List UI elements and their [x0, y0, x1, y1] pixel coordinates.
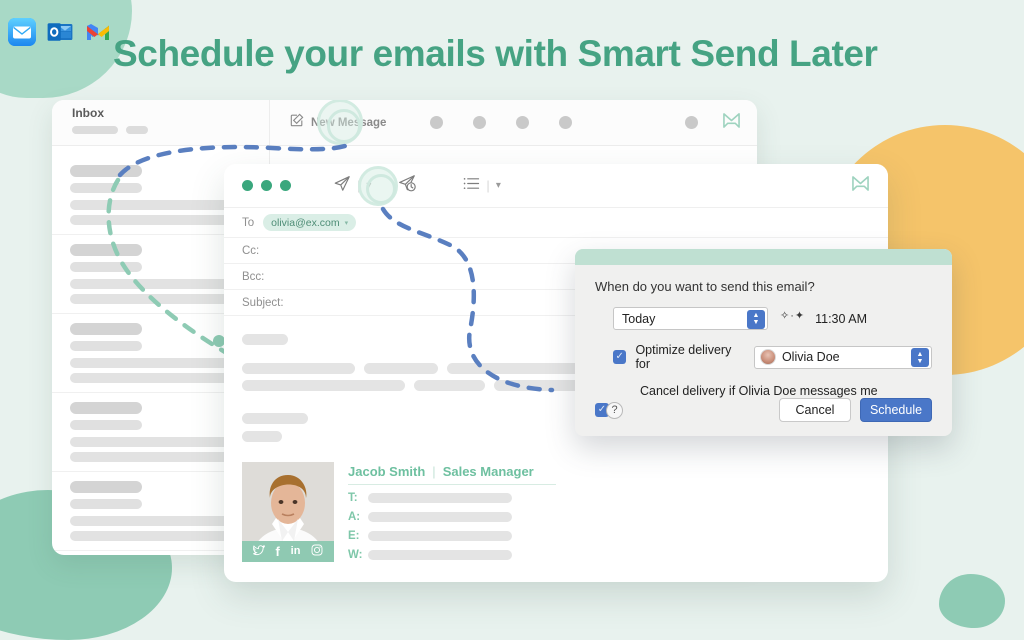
signature-key: W:	[348, 549, 361, 561]
toolbar-dot[interactable]	[559, 116, 572, 129]
dialog-content: When do you want to send this email? Tod…	[575, 265, 952, 436]
toolbar-icon-dots[interactable]	[430, 116, 572, 129]
compose-logo[interactable]	[851, 175, 870, 197]
person-select-value: Olivia Doe	[782, 350, 840, 364]
schedule-time[interactable]: 11:30 AM	[815, 312, 867, 326]
cancel-button[interactable]: Cancel	[779, 398, 851, 422]
signature-row: T:	[348, 492, 870, 504]
chevron-down-icon[interactable]: ▾	[496, 180, 501, 191]
app-icon-row	[8, 18, 112, 46]
promo-graphic: Schedule your emails with Smart Send Lat…	[0, 0, 1024, 640]
optimize-delivery-label: Optimize delivery for	[635, 343, 744, 371]
compose-pencil-icon	[290, 113, 304, 132]
skeleton-bar	[126, 126, 148, 134]
recipient-chip[interactable]: olivia@ex.com ▾	[263, 214, 356, 231]
skeleton-bar	[70, 244, 142, 256]
field-label-bcc: Bcc:	[242, 271, 264, 283]
skeleton-bar	[70, 323, 142, 335]
signature-key: T:	[348, 492, 361, 504]
skeleton-bar	[368, 531, 512, 541]
dialog-footer: ✓ ? Cancel Schedule	[575, 398, 952, 422]
close-window-dot[interactable]	[242, 180, 253, 191]
field-to[interactable]: To olivia@ex.com ▾	[224, 208, 888, 238]
stepper-icon[interactable]: ▲ ▼	[911, 348, 929, 367]
dialog-question: When do you want to send this email?	[595, 279, 932, 294]
twitter-icon[interactable]	[253, 545, 265, 559]
chevron-down-icon[interactable]: ▾	[345, 219, 349, 227]
signature-rule	[348, 484, 556, 485]
skeleton-bar	[368, 493, 512, 503]
instagram-icon[interactable]	[311, 544, 323, 559]
skeleton-bar	[70, 420, 142, 430]
field-label-cc: Cc:	[242, 245, 259, 257]
skeleton-bar	[368, 512, 512, 522]
stepper-icon[interactable]: ▲ ▼	[747, 310, 765, 329]
list-options-button[interactable]: | ▾	[463, 176, 500, 196]
inbox-title: Inbox	[72, 106, 249, 120]
list-lines-icon	[463, 176, 480, 196]
skeleton-bar	[72, 126, 118, 134]
cancel-delivery-note: Cancel delivery if Olivia Doe messages m…	[595, 384, 932, 398]
dialog-buttons: Cancel Schedule	[779, 398, 932, 422]
linkedin-icon[interactable]: in	[291, 546, 301, 557]
skeleton-bar	[70, 481, 142, 493]
sidebar-header-skeletons	[72, 126, 249, 134]
optimize-delivery-checkbox[interactable]: ✓	[613, 350, 626, 364]
maximize-window-dot[interactable]	[280, 180, 291, 191]
skeleton-bar	[70, 499, 142, 509]
schedule-dialog: When do you want to send this email? Tod…	[575, 249, 952, 436]
skeleton-bar	[70, 262, 142, 272]
signature-row: A:	[348, 511, 870, 523]
sidebar-header: Inbox	[52, 100, 270, 145]
field-label-to: To	[242, 217, 254, 229]
signature-key: A:	[348, 511, 361, 523]
toolbar-dot[interactable]	[516, 116, 529, 129]
gmail-icon	[84, 18, 112, 46]
toolbar-separator: |	[486, 178, 489, 193]
skeleton-bar	[242, 363, 355, 374]
new-message-button[interactable]: New Message	[290, 113, 386, 132]
help-group: ✓ ?	[595, 402, 623, 419]
send-later-button[interactable]	[397, 173, 417, 198]
page-title: Schedule your emails with Smart Send Lat…	[113, 33, 913, 75]
send-later-clock-icon	[397, 173, 417, 198]
mail-toolbar: New Message	[270, 100, 757, 145]
dialog-date-row: Today ▲ ▼ ✧·✦ 11:30 AM	[595, 307, 932, 330]
toolbar-dot[interactable]	[430, 116, 443, 129]
skeleton-bar	[70, 165, 142, 177]
dialog-titlebar	[575, 249, 952, 265]
decor-circle-bottom-right	[939, 574, 1005, 628]
date-select-value: Today	[622, 312, 655, 326]
toolbar-dot[interactable]	[473, 116, 486, 129]
outlook-icon	[46, 18, 74, 46]
facebook-icon[interactable]: f	[276, 545, 280, 558]
signature-name: Jacob Smith	[348, 464, 425, 479]
help-button[interactable]: ?	[606, 402, 623, 419]
signature-info: Jacob Smith | Sales Manager T: A: E:	[348, 462, 870, 562]
signature-row: W:	[348, 549, 870, 561]
signature-key: E:	[348, 530, 361, 542]
send-plane-icon	[333, 174, 351, 197]
mailbutler-m-icon[interactable]	[722, 112, 741, 134]
avatar	[760, 349, 776, 365]
toolbar-right-group	[685, 112, 741, 134]
recipient-email: olivia@ex.com	[271, 217, 339, 229]
skeleton-bar	[414, 380, 485, 391]
compose-toolbar: | ▾	[224, 164, 888, 208]
signature-role: Sales Manager	[443, 464, 534, 479]
skeleton-bar	[364, 363, 438, 374]
signature-name-line: Jacob Smith | Sales Manager	[348, 464, 870, 479]
window-traffic-lights[interactable]	[242, 180, 291, 191]
signature-social-row[interactable]: f in	[242, 541, 334, 562]
skeleton-bar	[242, 413, 308, 424]
skeleton-bar	[242, 380, 405, 391]
person-select[interactable]: Olivia Doe ▲ ▼	[754, 346, 932, 369]
minimize-window-dot[interactable]	[261, 180, 272, 191]
signature-divider: |	[432, 464, 435, 479]
chevron-up-icon: ▲	[753, 312, 760, 319]
avatar: f in	[242, 462, 334, 562]
schedule-button[interactable]: Schedule	[860, 398, 932, 422]
sparkle-icon: ✧·✦	[780, 309, 805, 322]
mailbutler-m-icon	[851, 179, 870, 196]
mail-topbar: Inbox New Message	[52, 100, 757, 146]
highlight-ring-send-later	[358, 166, 398, 206]
apple-mail-icon	[8, 18, 36, 46]
toolbar-dot[interactable]	[685, 116, 698, 129]
skeleton-bar	[368, 550, 512, 560]
skeleton-bar	[242, 334, 288, 345]
chevron-down-icon: ▼	[917, 358, 924, 365]
skeleton-bar	[70, 341, 142, 351]
field-label-subject: Subject:	[242, 297, 284, 309]
dialog-optimize-row: ✓ Optimize delivery for Olivia Doe ▲ ▼	[595, 343, 932, 371]
chevron-down-icon: ▼	[753, 319, 760, 326]
chevron-up-icon: ▲	[917, 351, 924, 358]
skeleton-bar	[70, 402, 142, 414]
skeleton-bar	[242, 431, 282, 442]
skeleton-bar	[70, 183, 142, 193]
date-select[interactable]: Today ▲ ▼	[613, 307, 768, 330]
email-signature: f in Jacob Smith	[242, 462, 870, 562]
signature-row: E:	[348, 530, 870, 542]
highlight-ring-new-message	[317, 100, 363, 145]
